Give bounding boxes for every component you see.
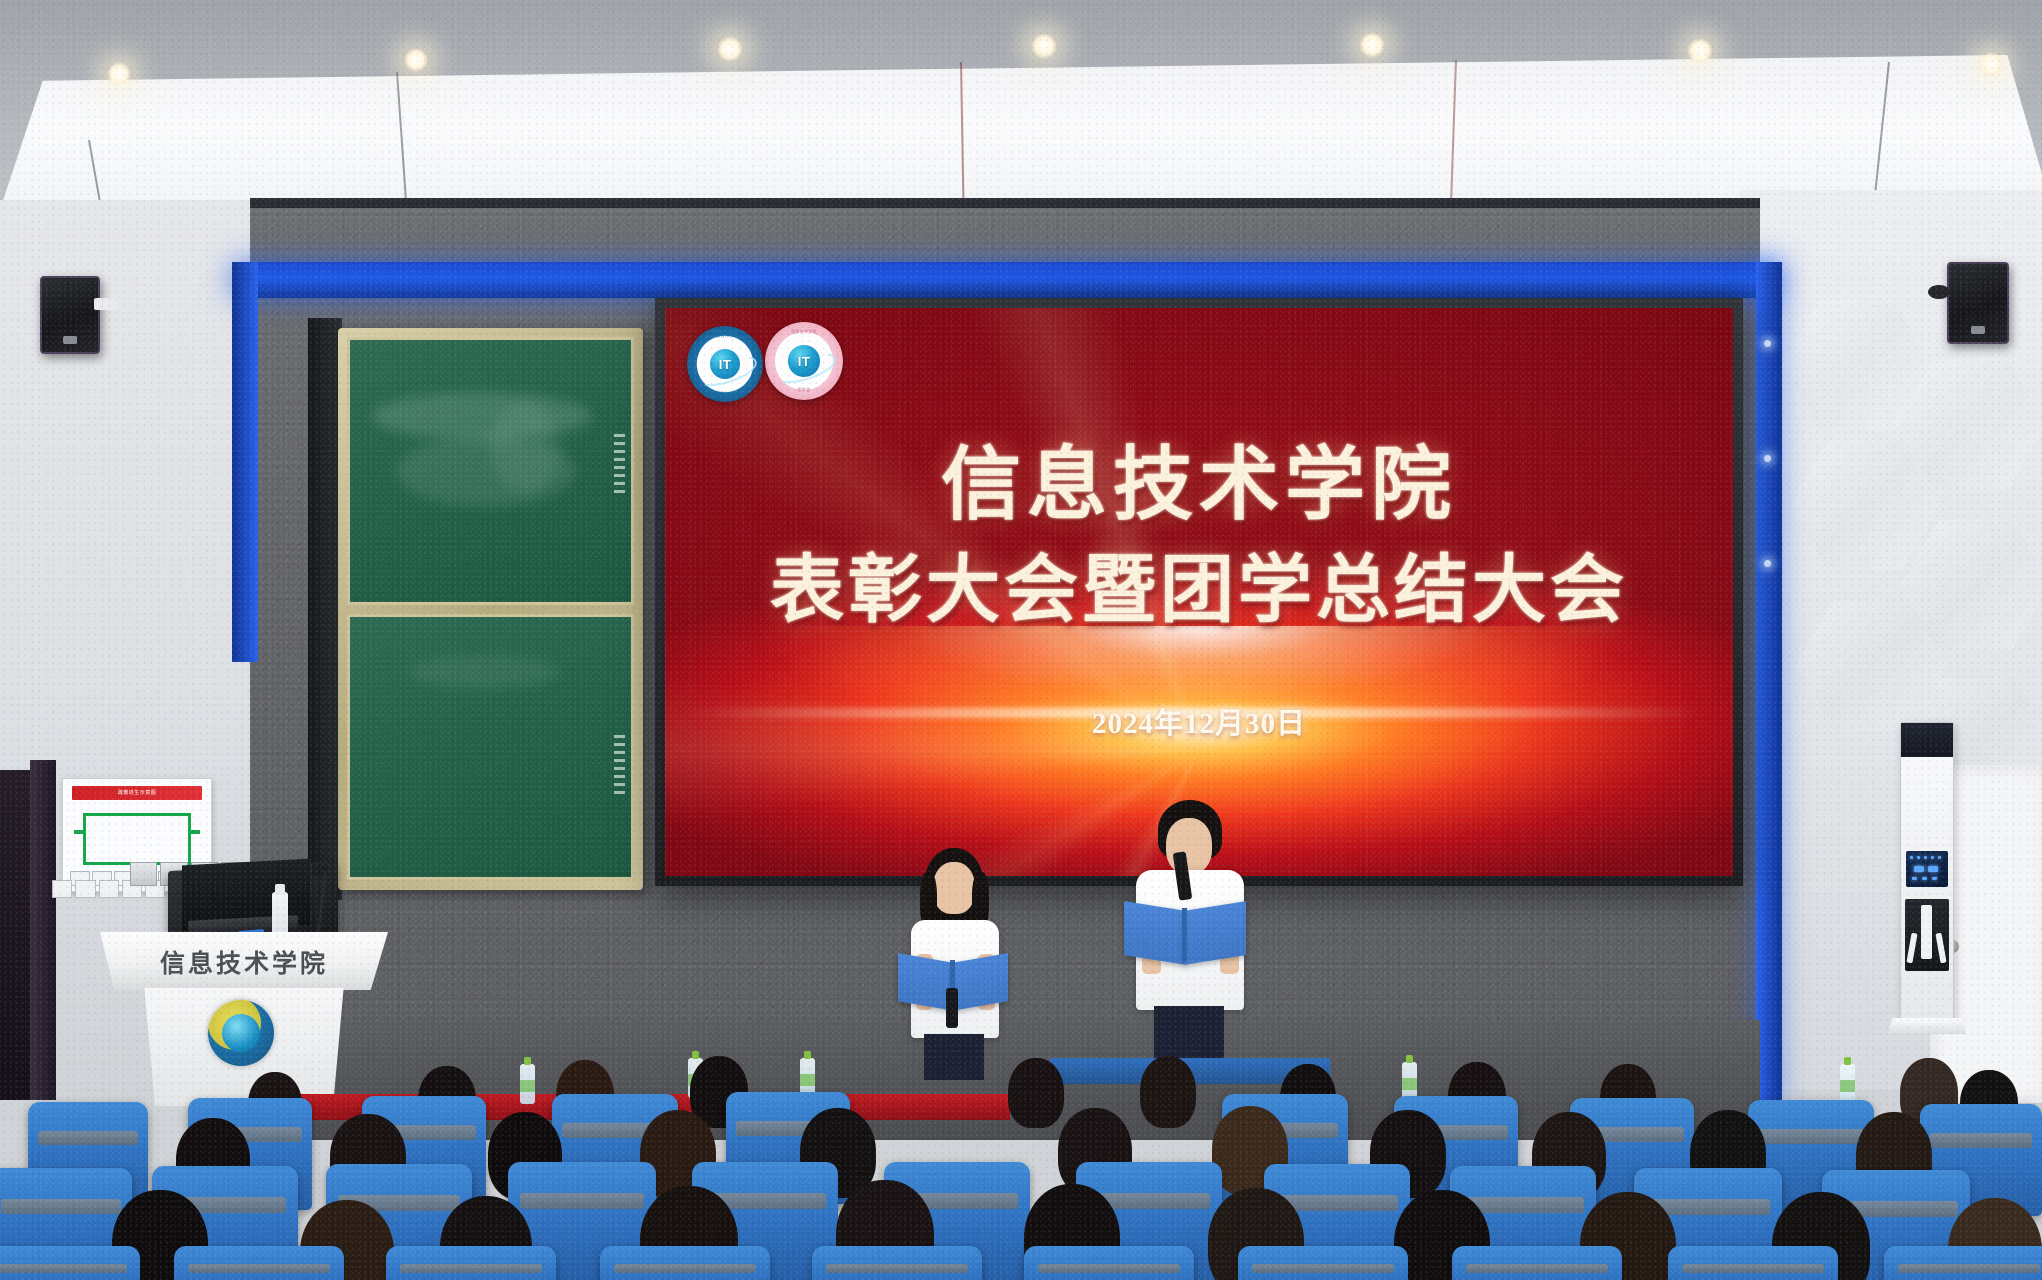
host-female [890,848,1020,1080]
green-chalkboard [338,328,643,890]
blue-folder [1124,901,1186,965]
speaker-logo [63,336,77,344]
blue-folder [952,953,1008,1011]
downlight [106,62,132,86]
device-display[interactable] [1906,851,1948,887]
auditorium-chair[interactable] [1668,1246,1838,1280]
led-glow-dot [1764,340,1771,347]
banner-title-line1: 信息技术学院 [665,420,1733,536]
emblem-micro-bottom: IT COLLEGE [687,390,763,395]
chalkboard-panel-upper [347,337,634,605]
chalkboard-scale-marks [614,735,625,794]
device-grille [1905,899,1949,971]
led-screen: IT 信息技术学院 IT COLLEGE IT 信息技术学院 团学会 信息技术学… [665,308,1733,876]
notice-header-text: 疏散逃生示意图 [72,786,202,800]
chalkboard-panel-lower [347,614,634,880]
auditorium-photo: 疏散逃生示意图 [0,0,2042,1280]
floor-plan-diagram [83,813,191,865]
audience-head [1008,1058,1064,1128]
host-head [933,862,975,914]
speaker-left-wall [40,276,100,354]
audience-head [1140,1056,1196,1128]
emblem-micro-top: 信息技术学院 [687,333,763,339]
water-bottle [1840,1064,1855,1104]
auditorium-chair[interactable] [600,1246,770,1280]
left-doorway-frame [30,760,56,1100]
speaker-mount [94,298,118,310]
emblem-micro-top: 信息技术学院 [765,329,843,335]
speaker-logo [1971,326,1985,334]
led-strip-right [1756,262,1782,1102]
audience-area [0,1050,2042,1280]
device-top-cap [1901,723,1953,757]
notice-header: 疏散逃生示意图 [72,786,202,800]
speaker-mount [1928,285,1950,299]
hand-sanitizer-bottle [272,892,288,936]
auditorium-chair[interactable] [386,1246,556,1280]
host-head [1166,818,1212,874]
banner-date: 2024年12月30日 [665,700,1733,742]
hand-sanitizer-pump [275,884,285,895]
auditorium-chair[interactable] [0,1246,140,1280]
led-glow-dot [1764,560,1771,567]
led-glow-dot [1764,455,1771,462]
handheld-microphone [946,988,958,1028]
wall-air-purifier[interactable] [1900,722,1954,1024]
auditorium-chair[interactable] [174,1246,344,1280]
led-strip-left [232,262,258,662]
podium-emblem-globe [222,1014,260,1052]
chalkboard-side-edge [308,318,342,900]
downlight [1686,38,1714,64]
auditorium-chair[interactable] [1884,1246,2042,1280]
emblem-micro-bottom: 团学会 [765,387,843,393]
downlight [1030,33,1058,59]
downlight [716,36,744,62]
folder-spine [1182,908,1187,962]
led-screen-bezel: IT 信息技术学院 IT COLLEGE IT 信息技术学院 团学会 信息技术学… [655,298,1743,886]
speaker-right-wall [1947,262,2009,344]
college-emblem-pink: IT 信息技术学院 团学会 [765,322,843,400]
water-bottle [520,1064,535,1104]
led-strip-top [232,262,1778,298]
banner-title-line2: 表彰大会暨团学总结大会 [665,530,1733,637]
blue-folder [1184,901,1246,965]
downlight [403,48,429,72]
host-male [1120,800,1260,1068]
podium-label: 信息技术学院 [100,944,388,980]
downlight [1358,32,1386,58]
auditorium-chair[interactable] [1452,1246,1622,1280]
auditorium-chair[interactable] [1238,1246,1408,1280]
auditorium-chair[interactable] [1024,1246,1194,1280]
auditorium-chair[interactable] [812,1246,982,1280]
chalkboard-scale-marks [614,434,625,493]
device-tray [1888,1018,1966,1034]
downlight [1978,52,2004,76]
college-emblem-blue: IT 信息技术学院 IT COLLEGE [687,326,763,402]
